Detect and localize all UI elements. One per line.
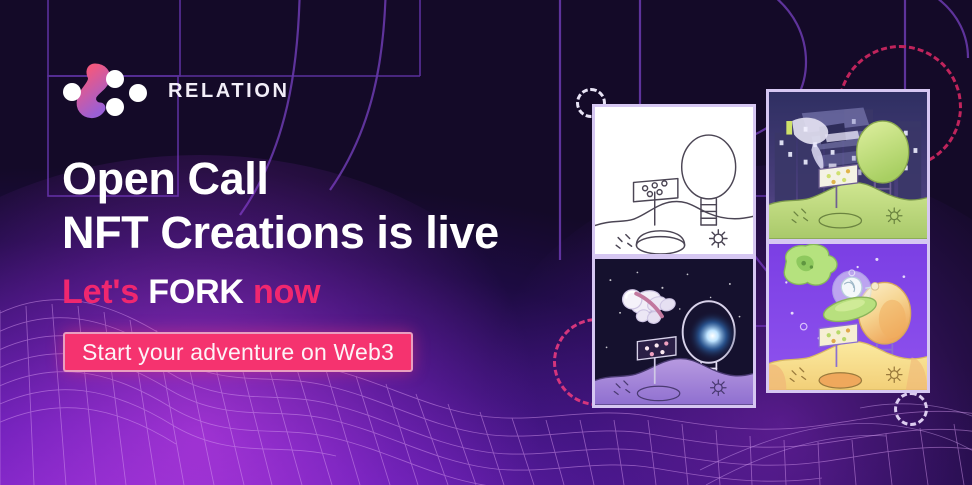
subline-part-3: now — [244, 273, 321, 311]
nft-card-astronaut-dark-space[interactable] — [592, 256, 756, 408]
nft-card-line-art-moon-scene[interactable] — [592, 104, 756, 256]
nft-card-ufo-sand-desert[interactable] — [766, 241, 930, 393]
nft-column-left — [592, 104, 756, 408]
headline-line-2: NFT Creations is live — [62, 206, 602, 260]
nft-column-right — [766, 89, 930, 393]
nft-card-night-city-green-tree[interactable] — [766, 89, 930, 241]
promo-banner: RELATION Open Call NFT Creations is live… — [0, 0, 972, 485]
relation-node-logo-icon — [62, 62, 154, 120]
cta-button[interactable]: Start your adventure on Web3 — [63, 332, 413, 372]
headline-block: Open Call NFT Creations is live Let's FO… — [62, 152, 602, 313]
brand-name: RELATION — [168, 80, 290, 103]
subline-part-1: Let's — [62, 273, 148, 311]
nft-card-grid — [592, 104, 930, 420]
subline-part-2: FORK — [148, 273, 244, 311]
brand-logo-row: RELATION — [62, 62, 290, 120]
subline: Let's FORK now — [62, 271, 602, 313]
headline-line-1: Open Call — [62, 152, 602, 206]
